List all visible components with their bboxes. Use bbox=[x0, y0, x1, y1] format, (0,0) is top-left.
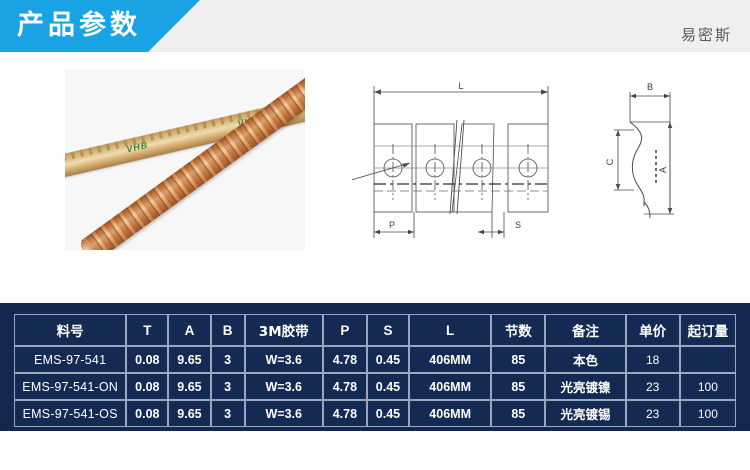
cell-moq: 100 bbox=[680, 373, 736, 400]
col-header-price: 单价 bbox=[626, 314, 680, 346]
col-header-tape: 3M胶带 bbox=[245, 314, 323, 346]
cell-t: 0.08 bbox=[126, 346, 168, 373]
cell-remark: 光亮镀镍 bbox=[545, 373, 625, 400]
cell-l: 406MM bbox=[409, 346, 491, 373]
cell-sections: 85 bbox=[491, 373, 545, 400]
cell-sections: 85 bbox=[491, 400, 545, 427]
col-header-s: S bbox=[367, 314, 409, 346]
cell-price: 23 bbox=[626, 373, 680, 400]
cell-b: 3 bbox=[211, 400, 245, 427]
col-header-sections: 节数 bbox=[491, 314, 545, 346]
col-header-p: P bbox=[323, 314, 367, 346]
cell-tape: W=3.6 bbox=[245, 373, 323, 400]
cell-moq bbox=[680, 346, 736, 373]
cell-p: 4.78 bbox=[323, 373, 367, 400]
page-header: 产品参数 易密斯 bbox=[0, 0, 750, 62]
product-photo: VHB VHB bbox=[65, 70, 305, 250]
cell-s: 0.45 bbox=[367, 400, 409, 427]
cell-remark: 光亮镀锡 bbox=[545, 400, 625, 427]
page-title: 产品参数 bbox=[17, 9, 141, 43]
col-header-code: 料号 bbox=[14, 314, 126, 346]
dim-label-slot: S bbox=[515, 220, 521, 230]
section-view-svg: B A C bbox=[600, 78, 728, 250]
col-header-b: B bbox=[211, 314, 245, 346]
dim-label-a: A bbox=[658, 167, 668, 173]
table-row: EMS-97-541-OS 0.08 9.65 3 W=3.6 4.78 0.4… bbox=[14, 400, 736, 427]
spec-table: 料号 T A B 3M胶带 P S L 节数 备注 单价 起订量 EMS-97-… bbox=[14, 314, 736, 427]
cell-code: EMS-97-541 bbox=[14, 346, 126, 373]
cell-tape: W=3.6 bbox=[245, 400, 323, 427]
dim-label-c: C bbox=[605, 158, 615, 165]
plan-view-svg: L P S Φ1.52 bbox=[352, 78, 572, 250]
cell-l: 406MM bbox=[409, 373, 491, 400]
technical-drawing-section-view: B A C bbox=[600, 78, 728, 250]
cell-s: 0.45 bbox=[367, 373, 409, 400]
cell-moq: 100 bbox=[680, 400, 736, 427]
cell-b: 3 bbox=[211, 373, 245, 400]
dim-label-length: L bbox=[458, 81, 463, 91]
table-header-row: 料号 T A B 3M胶带 P S L 节数 备注 单价 起订量 bbox=[14, 314, 736, 346]
cell-code: EMS-97-541-OS bbox=[14, 400, 126, 427]
cell-t: 0.08 bbox=[126, 400, 168, 427]
cell-l: 406MM bbox=[409, 400, 491, 427]
cell-tape: W=3.6 bbox=[245, 346, 323, 373]
col-header-moq: 起订量 bbox=[680, 314, 736, 346]
cell-sections: 85 bbox=[491, 346, 545, 373]
cell-p: 4.78 bbox=[323, 400, 367, 427]
cell-a: 9.65 bbox=[168, 400, 210, 427]
table-row: EMS-97-541 0.08 9.65 3 W=3.6 4.78 0.45 4… bbox=[14, 346, 736, 373]
col-header-remark: 备注 bbox=[545, 314, 625, 346]
cell-p: 4.78 bbox=[323, 346, 367, 373]
cell-a: 9.65 bbox=[168, 373, 210, 400]
product-spec-page: 产品参数 易密斯 VHB VHB bbox=[0, 0, 750, 470]
cell-remark: 本色 bbox=[545, 346, 625, 373]
cell-b: 3 bbox=[211, 346, 245, 373]
col-header-l: L bbox=[409, 314, 491, 346]
media-band: VHB VHB bbox=[0, 62, 750, 300]
cell-code: EMS-97-541-ON bbox=[14, 373, 126, 400]
spec-table-panel: 料号 T A B 3M胶带 P S L 节数 备注 单价 起订量 EMS-97-… bbox=[0, 303, 750, 431]
technical-drawing-plan-view: L P S Φ1.52 bbox=[352, 78, 572, 250]
dim-label-b: B bbox=[647, 82, 653, 92]
col-header-t: T bbox=[126, 314, 168, 346]
col-header-a: A bbox=[168, 314, 210, 346]
table-row: EMS-97-541-ON 0.08 9.65 3 W=3.6 4.78 0.4… bbox=[14, 373, 736, 400]
cell-price: 23 bbox=[626, 400, 680, 427]
cell-t: 0.08 bbox=[126, 373, 168, 400]
cell-s: 0.45 bbox=[367, 346, 409, 373]
cell-a: 9.65 bbox=[168, 346, 210, 373]
brand-name: 易密斯 bbox=[681, 24, 732, 45]
dim-label-hole-diameter: Φ1.52 bbox=[352, 174, 353, 190]
cell-price: 18 bbox=[626, 346, 680, 373]
dim-label-pitch: P bbox=[389, 220, 395, 230]
